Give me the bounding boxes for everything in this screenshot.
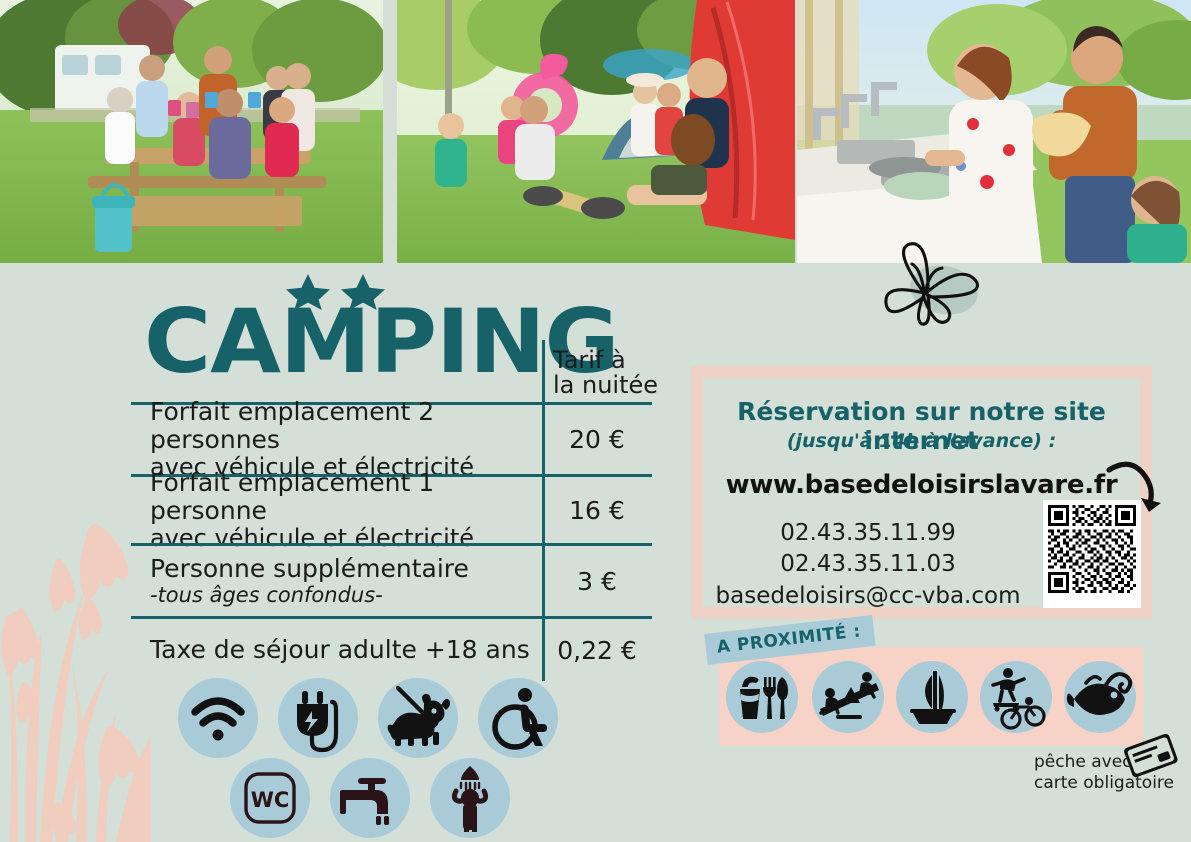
playground-seesaw-icon <box>812 661 884 733</box>
svg-text:WC: WC <box>251 788 290 812</box>
wc-icon: WC <box>230 758 310 838</box>
table-row: Personne supplémentaire -tous âges confo… <box>131 543 652 616</box>
wheelchair-icon <box>478 678 558 758</box>
reservation-panel: Réservation sur notre site internet (jus… <box>691 366 1152 619</box>
shower-icon <box>430 758 510 838</box>
photo-band <box>0 0 1191 263</box>
reservation-subtitle: (jusqu'à 14h à l'avance) : <box>703 430 1140 452</box>
dog-on-leash-icon <box>378 678 458 758</box>
email-address[interactable]: basedeloisirs@cc-vba.com <box>713 581 1023 612</box>
photo-children-tents-guitar <box>397 0 795 263</box>
phone-primary[interactable]: 02.43.35.11.99 <box>713 518 1023 549</box>
photo-dishwashing-sinks <box>797 0 1191 263</box>
wifi-icon <box>178 678 258 758</box>
water-tap-icon <box>330 758 410 838</box>
tariff-header-label: Tarif à la nuitée <box>553 348 663 399</box>
table-row: Forfait emplacement 1 personne avec véhi… <box>131 474 652 543</box>
tariff-description: Personne supplémentaire -tous âges confo… <box>131 546 542 616</box>
tariff-price: 16 € <box>542 496 652 525</box>
sailing-boat-icon <box>896 661 968 733</box>
photo-family-picnic-table <box>0 0 383 263</box>
tariff-price: 0,22 € <box>542 636 652 665</box>
reservation-url[interactable]: www.basedeloisirslavare.fr <box>703 470 1140 500</box>
tariff-table: Tarif à la nuitée Forfait emplacement 2 … <box>131 340 652 681</box>
qr-code[interactable] <box>1043 500 1141 608</box>
fishing-fish-icon <box>1064 661 1136 733</box>
tariff-description: Taxe de séjour adulte +18 ans <box>131 627 542 673</box>
tariff-price: 3 € <box>542 567 652 596</box>
power-plug-icon <box>278 678 358 758</box>
phone-secondary[interactable]: 02.43.35.11.03 <box>713 549 1023 580</box>
skate-bike-icon <box>980 661 1052 733</box>
butterfly-icon <box>872 238 992 328</box>
grass-decoration <box>0 420 150 842</box>
fishing-card-icon <box>1122 730 1180 782</box>
table-row: Taxe de séjour adulte +18 ans 0,22 € <box>131 616 652 681</box>
reservation-contact: 02.43.35.11.99 02.43.35.11.03 basedelois… <box>713 518 1023 612</box>
amenity-icons: WC <box>178 678 578 838</box>
leaflet-page: CAMPING Tarif à la nuitée Forfait emplac… <box>0 0 1191 842</box>
tariff-price: 20 € <box>542 425 652 454</box>
restaurant-icon <box>726 661 798 733</box>
